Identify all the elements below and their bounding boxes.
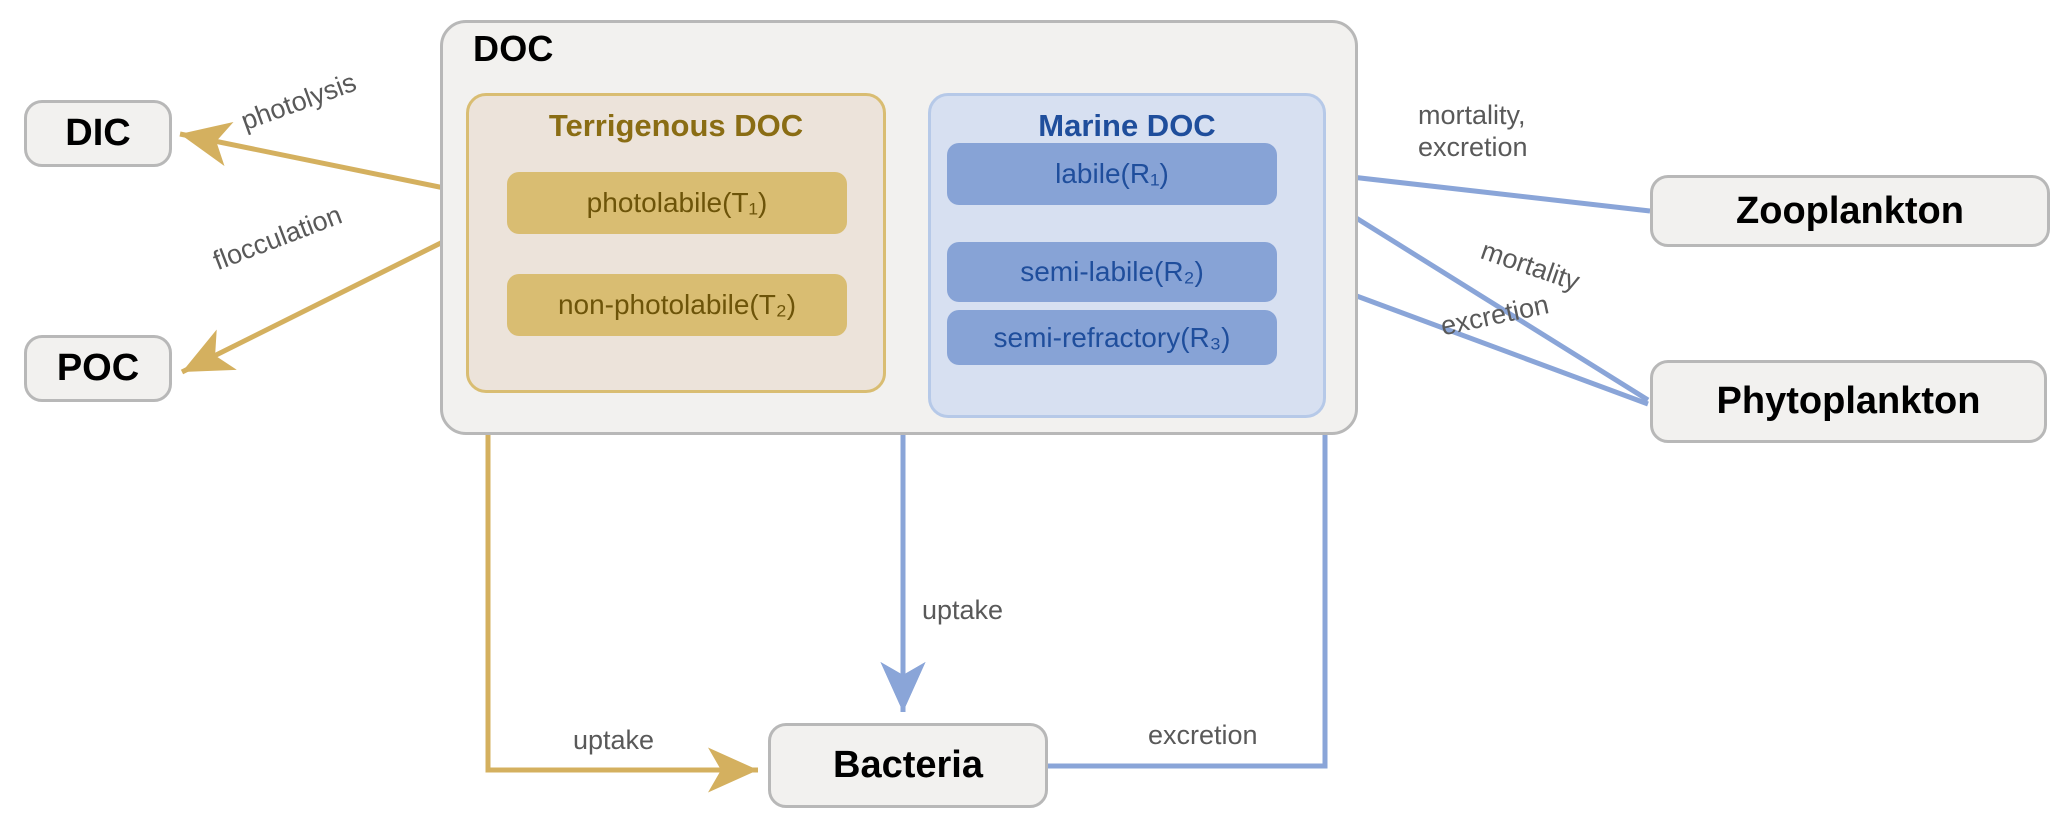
edge-label-flocculation: flocculation bbox=[209, 200, 347, 278]
node-dic[interactable]: DIC bbox=[24, 100, 172, 167]
node-bacteria[interactable]: Bacteria bbox=[768, 723, 1048, 808]
node-zooplankton-label: Zooplankton bbox=[1736, 190, 1964, 233]
node-dic-label: DIC bbox=[65, 112, 130, 155]
edge-label-excretion-bacteria: excretion bbox=[1148, 720, 1258, 752]
pool-semi-refractory-r3[interactable]: semi-refractory(R₃) bbox=[947, 310, 1277, 365]
edge-label-photolysis: photolysis bbox=[237, 67, 361, 138]
pool-photolabile-t1[interactable]: photolabile(T₁) bbox=[507, 172, 847, 234]
pool-semi-refractory-r3-label: semi-refractory(R₃) bbox=[994, 322, 1231, 354]
pool-semi-labile-r2-label: semi-labile(R₂) bbox=[1020, 256, 1204, 288]
diagram-canvas: DOC Terrigenous DOC Marine DOC photolabi… bbox=[0, 0, 2067, 830]
edge-label-mortality-excretion-line1: mortality, bbox=[1418, 100, 1528, 132]
node-poc-label: POC bbox=[57, 347, 139, 390]
edge-label-uptake-terrigenous: uptake bbox=[573, 725, 654, 757]
node-poc[interactable]: POC bbox=[24, 335, 172, 402]
node-phytoplankton[interactable]: Phytoplankton bbox=[1650, 360, 2047, 443]
node-zooplankton[interactable]: Zooplankton bbox=[1650, 175, 2050, 247]
pool-semi-labile-r2[interactable]: semi-labile(R₂) bbox=[947, 242, 1277, 302]
pool-non-photolabile-t2[interactable]: non-photolabile(T₂) bbox=[507, 274, 847, 336]
marine-doc-title: Marine DOC bbox=[928, 108, 1326, 144]
pool-photolabile-t1-label: photolabile(T₁) bbox=[587, 187, 768, 219]
edge-label-excretion-phyto: excretion bbox=[1438, 289, 1552, 343]
terrigenous-doc-title: Terrigenous DOC bbox=[466, 108, 886, 144]
pool-non-photolabile-t2-label: non-photolabile(T₂) bbox=[558, 289, 796, 321]
pool-labile-r1-label: labile(R₁) bbox=[1055, 158, 1169, 190]
edge-label-uptake-marine: uptake bbox=[922, 595, 1003, 627]
doc-container-title: DOC bbox=[473, 28, 554, 70]
node-phytoplankton-label: Phytoplankton bbox=[1717, 380, 1981, 423]
node-bacteria-label: Bacteria bbox=[833, 744, 983, 787]
pool-labile-r1[interactable]: labile(R₁) bbox=[947, 143, 1277, 205]
edge-label-mortality-excretion-line2: excretion bbox=[1418, 132, 1528, 164]
edge-label-mortality: mortality bbox=[1477, 235, 1584, 298]
edge-label-mortality-excretion: mortality, excretion bbox=[1418, 100, 1528, 164]
